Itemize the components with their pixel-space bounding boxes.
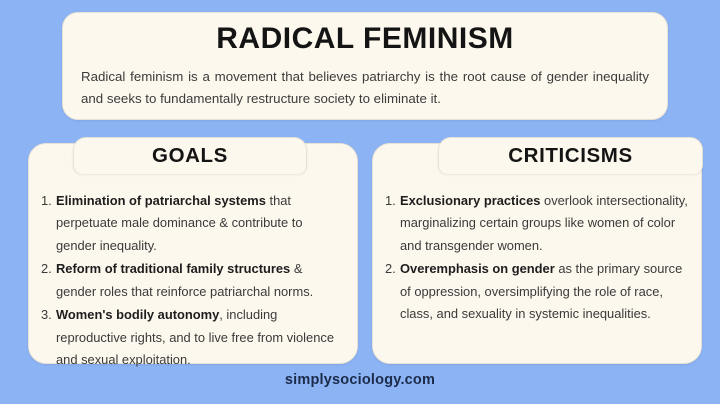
list-item-text: Elimination of patriarchal systems that …: [56, 190, 345, 257]
list-item-lead: Women's bodily autonomy: [56, 307, 219, 322]
list-item-text: Reform of traditional family structures …: [56, 258, 345, 303]
criticisms-heading-badge: CRITICISMS: [438, 137, 703, 174]
list-item-lead: Exclusionary practices: [400, 193, 540, 208]
goals-card: GOALS 1. Elimination of patriarchal syst…: [28, 143, 358, 364]
list-item-number: 2.: [41, 258, 56, 303]
list-item: 1. Elimination of patriarchal systems th…: [41, 190, 345, 257]
list-item-text: Exclusionary practices overlook intersec…: [400, 190, 689, 257]
list-item: 2. Overemphasis on gender as the primary…: [385, 258, 689, 325]
footer-attribution: simplysociology.com: [0, 372, 720, 388]
list-item-text: Overemphasis on gender as the primary so…: [400, 258, 689, 325]
list-item-text: Women's bodily autonomy, including repro…: [56, 304, 345, 371]
list-item-number: 1.: [41, 190, 56, 257]
header-card: RADICAL FEMINISM Radical feminism is a m…: [62, 12, 668, 120]
infographic-root: RADICAL FEMINISM Radical feminism is a m…: [0, 0, 720, 404]
list-item: 1. Exclusionary practices overlook inter…: [385, 190, 689, 257]
list-item: 2. Reform of traditional family structur…: [41, 258, 345, 303]
intro-paragraph: Radical feminism is a movement that beli…: [81, 66, 649, 109]
goals-list: 1. Elimination of patriarchal systems th…: [29, 144, 357, 372]
page-title: RADICAL FEMINISM: [79, 21, 651, 57]
list-item: 3. Women's bodily autonomy, including re…: [41, 304, 345, 371]
list-item-lead: Elimination of patriarchal systems: [56, 193, 266, 208]
list-item-lead: Reform of traditional family structures: [56, 261, 290, 276]
list-item-lead: Overemphasis on gender: [400, 261, 555, 276]
list-item-number: 1.: [385, 190, 400, 257]
list-item-number: 2.: [385, 258, 400, 325]
goals-heading-badge: GOALS: [73, 137, 307, 174]
columns-container: GOALS 1. Elimination of patriarchal syst…: [28, 136, 668, 364]
criticisms-card: CRITICISMS 1. Exclusionary practices ove…: [372, 143, 702, 364]
list-item-number: 3.: [41, 304, 56, 371]
